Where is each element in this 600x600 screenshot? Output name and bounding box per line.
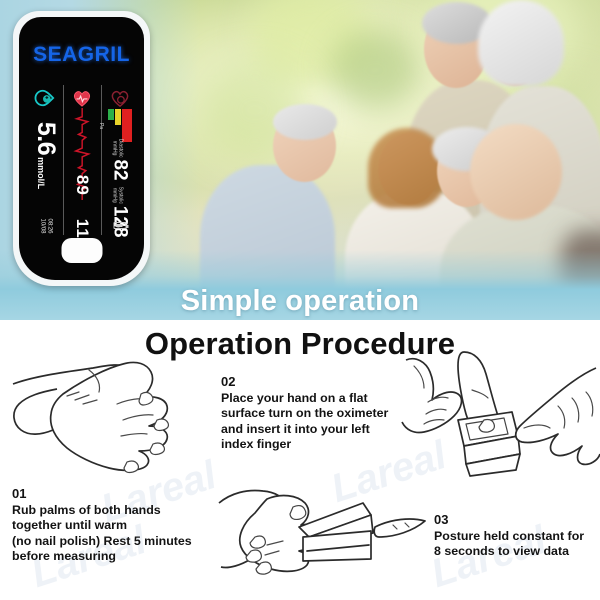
bp-diastolic-unit: mmHg <box>112 141 118 156</box>
step-02-body: Place your hand on a flat surface turn o… <box>221 391 388 452</box>
glucose-unit: mmol/L <box>36 157 46 189</box>
glucose-time: 08:26 <box>45 218 52 233</box>
procedure-panel: Operation Procedure Lareal Lareal Lareal… <box>0 320 600 600</box>
hero-caption: Simple operation <box>0 285 600 318</box>
device-display: SEAGRIL 5.6 <box>19 17 144 280</box>
step-03-body: Posture held constant for 8 seconds to v… <box>434 529 584 559</box>
inserting-finger-illustration <box>400 350 600 500</box>
step-01-number: 01 <box>12 486 217 502</box>
glucose-value: 5.6 <box>33 121 58 154</box>
pulse-values: 89 117 <box>64 189 100 235</box>
glucose-date: 10/08 <box>38 218 45 233</box>
person-hair <box>478 0 564 86</box>
blood-pressure-heart-icon <box>109 88 131 108</box>
bp-systolic-unit: mmHg <box>112 188 118 203</box>
glucose-timestamp: 08:26 10/08 <box>27 219 63 233</box>
step-03-number: 03 <box>434 512 599 528</box>
bp-diastolic-value: 82 <box>112 159 128 180</box>
bp-systolic: Systolic mmHg 128 <box>112 187 128 238</box>
hero-photo: SEAGRIL 5.6 <box>0 0 600 320</box>
bp-diastolic: Diastolic mmHg 82 <box>112 139 128 181</box>
home-button[interactable] <box>61 238 102 263</box>
person-head <box>470 124 562 220</box>
pulse-value-1: 89 <box>73 175 92 196</box>
step-02-number: 02 <box>221 374 411 390</box>
glucose-drop-icon <box>34 88 56 108</box>
bp-values: Diastolic mmHg 82 Systolic mmHg <box>102 151 138 225</box>
step-03-text: 03 Posture held constant for 8 seconds t… <box>434 512 599 560</box>
bp-diastolic-label: Diastolic <box>118 139 124 158</box>
foliage-blob <box>330 30 420 110</box>
bp-bar-label: Pa <box>98 123 104 129</box>
glucose-column: 5.6 mmol/L 08:26 10/08 <box>27 85 63 235</box>
battery-icon <box>113 222 126 229</box>
brand-logo: SEAGRIL <box>19 43 144 67</box>
promo-page: SEAGRIL 5.6 <box>0 0 600 600</box>
oximeter-device[interactable]: SEAGRIL 5.6 <box>13 11 150 286</box>
hold-posture-illustration <box>215 475 430 600</box>
glucose-value-wrap: 5.6 mmol/L <box>27 109 63 201</box>
bp-systolic-label: Systolic <box>118 187 124 204</box>
pulse-column: 89 117 <box>63 85 100 235</box>
readouts-row: 5.6 mmol/L 08:26 10/08 <box>27 85 138 235</box>
person-hair <box>273 104 337 140</box>
step-02-text: 02 Place your hand on a flat surface tur… <box>221 374 411 453</box>
step-01-body: Rub palms of both hands together until w… <box>12 503 192 564</box>
blood-pressure-column: Pa Diastolic mmHg 82 <box>101 85 138 235</box>
rubbing-hands-illustration <box>5 352 220 477</box>
step-01-text: 01 Rub palms of both hands together unti… <box>12 486 217 565</box>
